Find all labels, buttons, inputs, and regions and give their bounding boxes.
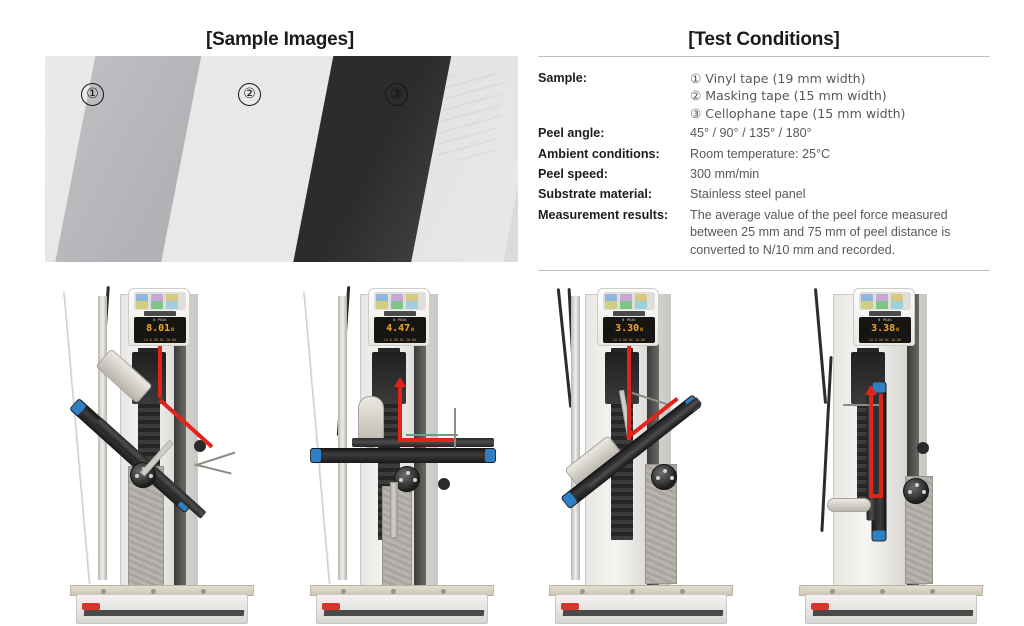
base-slot: [324, 610, 484, 616]
cond-value-measurement-results: The average value of the peel force meas…: [690, 207, 990, 262]
table-row: Ambient conditions: Room temperature: 25…: [538, 146, 990, 166]
force-gauge: N PEAK 3.30N LO 0.00 Hi 10.00: [597, 288, 659, 346]
cond-label-substrate-material: Substrate material:: [538, 186, 690, 206]
gauge-key: [605, 301, 617, 309]
machine-base-plate: [76, 594, 248, 624]
disc-dot: [908, 490, 912, 494]
machine-base-plate: [316, 594, 488, 624]
cond-label-measurement-results: Measurement results:: [538, 207, 690, 262]
gauge-display-value: 4.47N: [374, 323, 426, 336]
angle-adjust-disc: [651, 464, 677, 490]
base-slot: [563, 610, 723, 616]
force-gauge: N PEAK 4.47N LO 0.00 Hi 10.00: [368, 288, 430, 346]
gauge-display-mode: N PEAK: [137, 318, 183, 322]
vertical-support-plate: [390, 482, 398, 538]
arrow-fold: [869, 494, 883, 498]
force-gauge: N PEAK 3.38N LO 0.00 Hi 10.00: [853, 288, 915, 346]
peel-tester-photo-90deg: N PEAK 4.47N LO 0.00 Hi 10.00: [302, 286, 504, 626]
test-conditions-panel: Sample: ① Vinyl tape (19 mm width) ② Mas…: [538, 56, 990, 271]
specimen-wire: [195, 452, 235, 466]
gauge-display-limits: LO 0.00 Hi 10.00: [861, 338, 909, 342]
table-row: Sample: ① Vinyl tape (19 mm width) ② Mas…: [538, 70, 990, 125]
disc-dot: [406, 471, 410, 475]
cond-value-line: between 25 mm and 75 mm of peel distance…: [690, 224, 990, 241]
disc-dot: [399, 478, 403, 482]
cond-value-line: The average value of the peel force meas…: [690, 207, 990, 224]
gauge-value-unit: N: [171, 328, 174, 333]
gauge-display-value: 3.30N: [603, 323, 655, 336]
gauge-display-mode: N PEAK: [377, 318, 423, 322]
cond-value-line: ② Masking tape (15 mm width): [690, 87, 990, 104]
bar-end-cap-right: [485, 449, 495, 462]
gauge-display-value: 3.38N: [859, 323, 911, 336]
gauge-brand-logo: [384, 311, 416, 316]
disc-dot: [922, 490, 926, 494]
cond-value-sample: ① Vinyl tape (19 mm width) ② Masking tap…: [690, 70, 990, 125]
disc-dot: [413, 478, 417, 482]
gauge-display-mode: N PEAK: [862, 318, 908, 322]
sample-badge-2: ②: [238, 83, 261, 106]
power-indicator: [322, 603, 340, 610]
gauge-key: [151, 301, 163, 309]
cond-label-peel-angle: Peel angle:: [538, 125, 690, 145]
gauge-key: [391, 301, 403, 309]
force-direction-arrow-shaft: [398, 386, 402, 442]
gauge-value-number: 4.47: [386, 323, 410, 334]
cond-label-sample: Sample:: [538, 70, 690, 125]
locking-knob: [917, 442, 929, 454]
force-direction-arrow-shaft: [879, 394, 883, 498]
gauge-key: [376, 301, 388, 309]
cond-label-peel-speed: Peel speed:: [538, 166, 690, 186]
gauge-display: N PEAK 3.30N LO 0.00 Hi 10.00: [603, 317, 655, 343]
force-direction-arrow-shaft: [158, 340, 162, 398]
white-cable: [303, 292, 331, 584]
gauge-key: [406, 301, 418, 309]
gauge-brand-logo: [144, 311, 176, 316]
gauge-key: [861, 301, 873, 309]
peel-tester-photo-45deg: N PEAK 8.01N LO 0.00 Hi 10.00: [62, 286, 264, 626]
test-conditions-table: Sample: ① Vinyl tape (19 mm width) ② Mas…: [538, 70, 990, 262]
gauge-keypad: [603, 292, 655, 310]
gauge-display: N PEAK 4.47N LO 0.00 Hi 10.00: [374, 317, 426, 343]
gauge-key: [891, 301, 903, 309]
gauge-display: N PEAK 8.01N LO 0.00 Hi 10.00: [134, 317, 186, 343]
table-row: Substrate material: Stainless steel pane…: [538, 186, 990, 206]
table-row: Peel angle: 45° / 90° / 135° / 180°: [538, 125, 990, 145]
gauge-key: [136, 301, 148, 309]
gauge-key: [876, 301, 888, 309]
cond-value-peel-angle: 45° / 90° / 135° / 180°: [690, 125, 990, 145]
specimen-wire: [194, 463, 231, 474]
gauge-value-unit: N: [896, 328, 899, 333]
guide-rod: [338, 296, 347, 580]
gauge-key: [635, 301, 647, 309]
white-cable: [63, 292, 91, 584]
cond-value-line: ③ Cellophane tape (15 mm width): [690, 105, 990, 122]
fixture-arm: [827, 498, 871, 512]
gauge-value-unit: N: [640, 328, 643, 333]
divider-bottom: [538, 270, 990, 271]
gauge-keypad: [374, 292, 426, 310]
peel-tester-photo-135deg: N PEAK 3.30N LO 0.00 Hi 10.00: [541, 286, 743, 626]
peel-test-infographic: [Sample Images] ① ② ③ [Test Conditions] …: [0, 0, 1024, 626]
disc-dot: [915, 483, 919, 487]
test-conditions-title: [Test Conditions]: [538, 29, 990, 51]
machine-base-plate: [555, 594, 727, 624]
peel-direction-arrow: [398, 438, 454, 442]
black-cable: [814, 288, 827, 404]
base-slot: [813, 610, 973, 616]
disc-dot: [149, 474, 153, 478]
cond-value-line: converted to N/10 mm and recorded.: [690, 242, 990, 259]
cond-label-ambient-conditions: Ambient conditions:: [538, 146, 690, 166]
table-row: Measurement results: The average value o…: [538, 207, 990, 262]
machine-base-plate: [805, 594, 977, 624]
force-direction-arrow-shaft: [627, 344, 631, 440]
gauge-value-number: 3.38: [871, 323, 895, 334]
base-slot: [84, 610, 244, 616]
disc-dot: [670, 476, 674, 480]
gauge-value-number: 8.01: [146, 323, 170, 334]
gauge-display-value: 8.01N: [134, 323, 186, 336]
angle-adjust-disc: [903, 478, 929, 504]
specimen-wire: [454, 408, 456, 448]
power-indicator: [561, 603, 579, 610]
peel-fixture-bar: [310, 448, 496, 463]
disc-dot: [656, 476, 660, 480]
power-indicator: [82, 603, 100, 610]
cond-value-peel-speed: 300 mm/min: [690, 166, 990, 186]
specimen-wire: [406, 434, 458, 436]
sample-images-photo: ① ② ③: [45, 56, 518, 262]
bar-end-cap-right: [873, 531, 886, 541]
gauge-display-limits: LO 0.00 Hi 10.00: [136, 338, 184, 342]
power-indicator: [811, 603, 829, 610]
bar-end-cap-left: [311, 449, 321, 462]
peel-direction-arrow: [869, 394, 873, 498]
gauge-display-mode: N PEAK: [606, 318, 652, 322]
specimen-wire: [843, 404, 881, 406]
sample-badge-1: ①: [81, 83, 104, 106]
gauge-keypad: [134, 292, 186, 310]
peel-tester-photo-180deg: N PEAK 3.38N LO 0.00 Hi 10.00: [791, 286, 993, 626]
gauge-keypad: [859, 292, 911, 310]
sample-badge-3: ③: [385, 83, 408, 106]
cond-value-ambient-conditions: Room temperature: 25°C: [690, 146, 990, 166]
sample-images-title: [Sample Images]: [45, 29, 515, 51]
gauge-value-unit: N: [411, 328, 414, 333]
table-row: Peel speed: 300 mm/min: [538, 166, 990, 186]
force-direction-arrow-head: [865, 385, 877, 395]
gauge-brand-logo: [869, 311, 901, 316]
gauge-value-number: 3.30: [615, 323, 639, 334]
cond-value-line: ① Vinyl tape (19 mm width): [690, 70, 990, 87]
guide-rod: [571, 296, 580, 580]
gauge-key: [620, 301, 632, 309]
disc-dot: [135, 474, 139, 478]
divider-top: [538, 56, 990, 57]
gauge-brand-logo: [613, 311, 645, 316]
force-direction-arrow-head: [394, 377, 406, 387]
disc-dot: [663, 469, 667, 473]
locking-knob: [438, 478, 450, 490]
cond-value-substrate-material: Stainless steel panel: [690, 186, 990, 206]
gauge-key: [166, 301, 178, 309]
gauge-display-limits: LO 0.00 Hi 10.00: [605, 338, 653, 342]
gauge-display-limits: LO 0.00 Hi 10.00: [376, 338, 424, 342]
gauge-display: N PEAK 3.38N LO 0.00 Hi 10.00: [859, 317, 911, 343]
force-gauge: N PEAK 8.01N LO 0.00 Hi 10.00: [128, 288, 190, 346]
